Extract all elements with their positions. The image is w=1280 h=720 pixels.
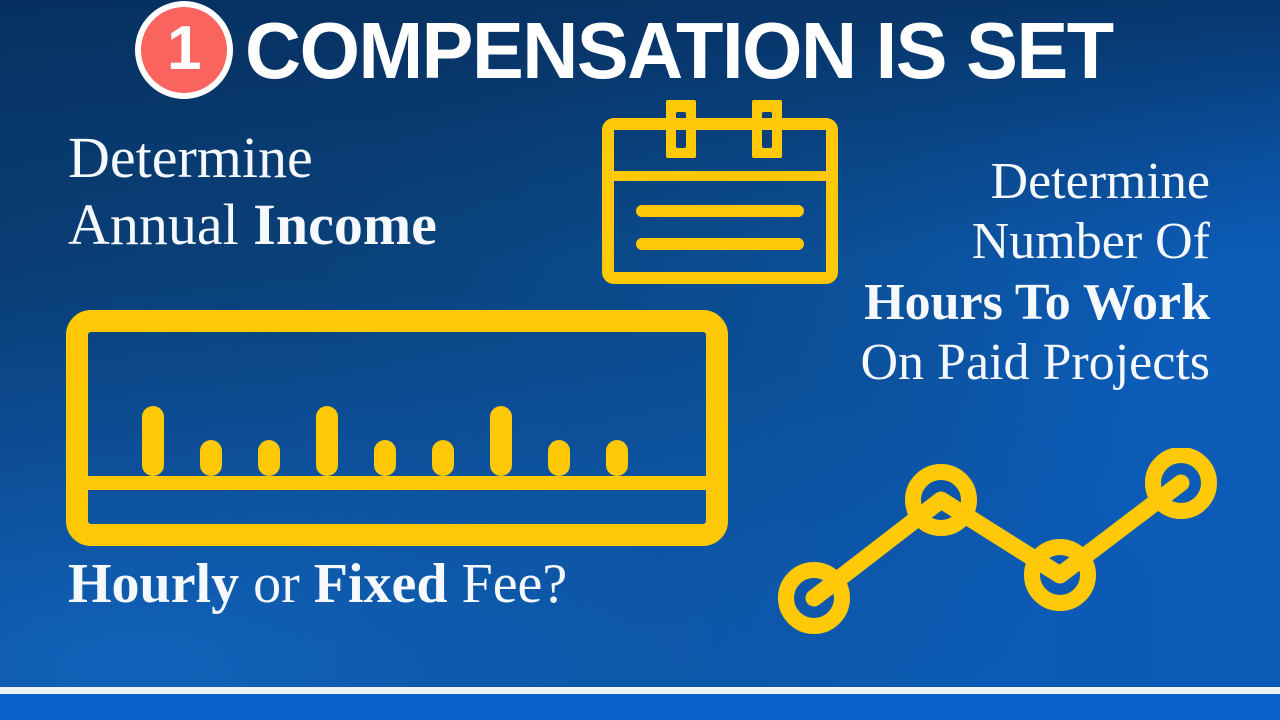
ruler-tick-9 xyxy=(606,440,628,476)
income-emphasis: Income xyxy=(253,192,437,257)
ruler-tick-1 xyxy=(142,406,164,476)
ruler-tick-8 xyxy=(548,440,570,476)
calendar-header-divider xyxy=(614,171,826,181)
fixed-emphasis: Fixed xyxy=(314,553,448,615)
right-copy-line-2: Number Of xyxy=(860,212,1210,272)
footer-divider xyxy=(0,687,1280,694)
calendar-body-outline xyxy=(608,124,832,278)
line-chart-icon xyxy=(778,448,1224,634)
left-copy-line-1: Determine xyxy=(68,124,437,191)
right-copy-line-1: Determine xyxy=(860,152,1210,212)
annual-income-text-block: Determine Annual Income xyxy=(68,124,437,259)
ruler-tick-2 xyxy=(200,440,222,476)
fee-conjunction: or xyxy=(239,553,314,615)
right-copy-line-4: On Paid Projects xyxy=(860,333,1210,393)
right-copy-line-3: Hours To Work xyxy=(860,273,1210,333)
ruler-tick-7 xyxy=(490,406,512,476)
left-copy-line-2: Annual Income xyxy=(68,191,437,258)
step-number-label: 1 xyxy=(167,18,200,80)
fee-suffix: Fee? xyxy=(448,553,568,615)
slide-root: 1 COMPENSATION IS SET Determine Annual I… xyxy=(0,0,1280,720)
ruler-tick-6 xyxy=(432,440,454,476)
hourly-emphasis: Hourly xyxy=(68,553,239,615)
ruler-baseline xyxy=(88,476,706,490)
ruler-tick-4 xyxy=(316,406,338,476)
hours-to-work-text-block: Determine Number Of Hours To Work On Pai… xyxy=(860,152,1210,393)
ruler-icon xyxy=(66,310,728,546)
fee-question-text-block: Hourly or Fixed Fee? xyxy=(68,552,567,617)
calendar-icon xyxy=(600,98,840,288)
step-number-badge: 1 xyxy=(141,7,227,93)
ruler-tick-3 xyxy=(258,440,280,476)
chart-line-series xyxy=(814,483,1181,598)
ruler-ticks xyxy=(142,406,628,476)
ruler-tick-5 xyxy=(374,440,396,476)
calendar-content-line-2 xyxy=(636,238,804,250)
ruler-frame xyxy=(77,321,717,535)
calendar-content-line-1 xyxy=(636,205,804,217)
page-title: COMPENSATION IS SET xyxy=(245,11,1113,91)
title-row: 1 COMPENSATION IS SET xyxy=(0,0,1280,100)
footer-bar xyxy=(0,694,1280,720)
